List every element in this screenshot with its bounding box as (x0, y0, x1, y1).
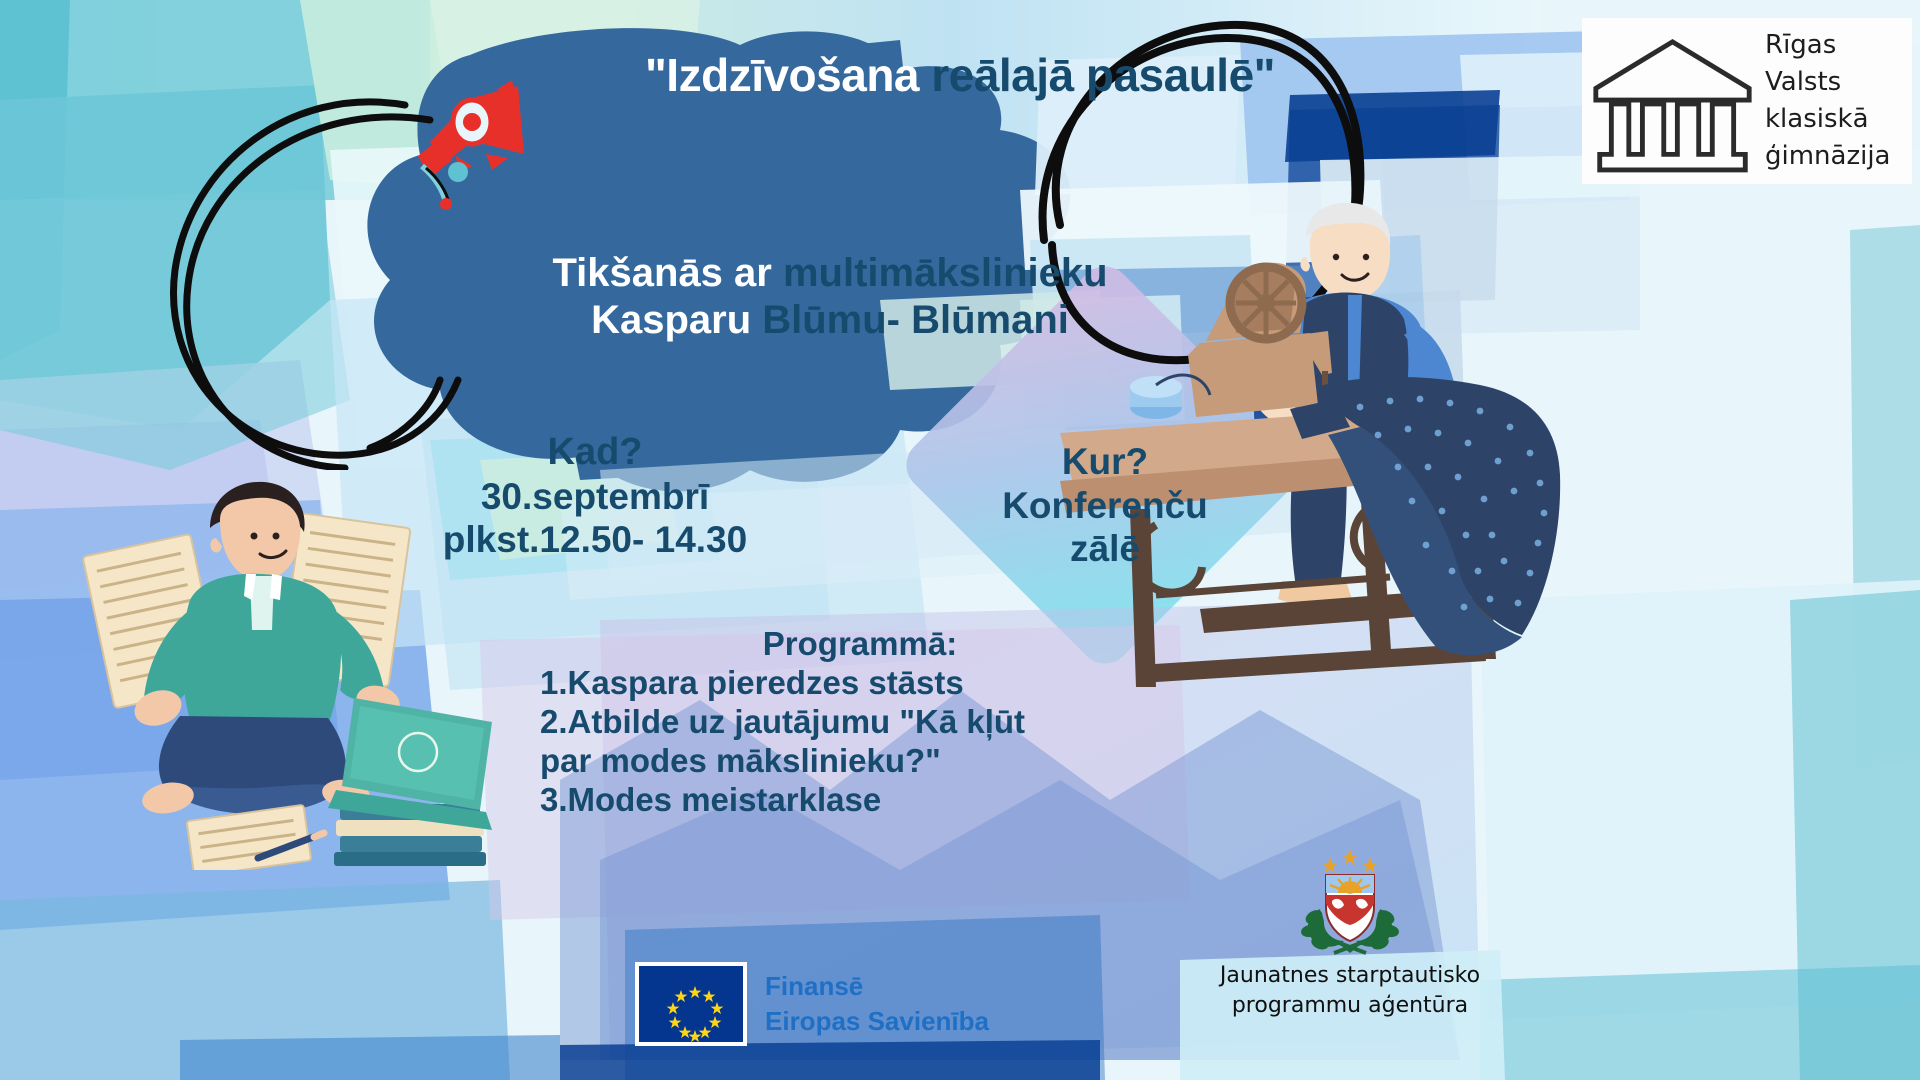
meeting-line1-white: Tikšanās ar (552, 251, 771, 295)
school-logo: Rīgas Valsts klasiskā ģimnāzija (1582, 18, 1912, 184)
when-label: Kad? (430, 430, 760, 475)
agency-caption-line1: Jaunatnes starptautisko (1200, 961, 1500, 991)
eu-label-line2: Eiropas Savienība (765, 1004, 989, 1039)
school-logo-text: Rīgas Valsts klasiskā ģimnāzija (1765, 27, 1891, 175)
programme-item: 2.Atbilde uz jautājumu "Kā kļūt (540, 703, 1180, 742)
school-logo-line: ģimnāzija (1765, 138, 1891, 175)
school-logo-line: Rīgas (1765, 27, 1891, 64)
programme-heading: Programmā: (540, 625, 1180, 664)
school-logo-line: klasiskā (1765, 101, 1891, 138)
agency-caption-line2: programmu aģentūra (1200, 991, 1500, 1021)
school-logo-line: Valsts (1765, 64, 1891, 101)
meeting-line2-white: Kasparu (591, 298, 751, 342)
eu-funding-label: Finansē Eiropas Savienība (765, 969, 989, 1039)
where-block: Kur? Konferenču zālē (955, 440, 1255, 571)
programme-item: 3.Modes meistarklase (540, 781, 1180, 820)
agency-logo-caption: Jaunatnes starptautisko programmu aģentū… (1200, 961, 1500, 1020)
classical-building-icon (1590, 26, 1755, 176)
eu-flag-icon (635, 962, 747, 1046)
meeting-line2-dark: Blūmu- Blūmani (762, 298, 1069, 342)
programme-block: Programmā: 1.Kaspara pieredzes stāsts 2.… (540, 625, 1180, 820)
meeting-headline: Tikšanās ar multimākslinieku Kasparu Blū… (350, 250, 1310, 344)
where-place-line2: zālē (955, 527, 1255, 571)
meeting-line1-dark: multimākslinieku (783, 251, 1108, 295)
where-place-line1: Konferenču (955, 484, 1255, 528)
when-time: plkst.12.50- 14.30 (430, 518, 760, 562)
title-white-part: "Izdzīvošana (645, 49, 919, 101)
poster-canvas: "Izdzīvošana reālajā pasaulē" Tikšanās a… (0, 0, 1920, 1080)
latvia-coat-of-arms-icon (1290, 845, 1410, 957)
where-label: Kur? (955, 440, 1255, 484)
eu-funding-logo: Finansē Eiropas Savienība (635, 962, 989, 1046)
eu-stars-circle (639, 966, 751, 1050)
programme-item: 1.Kaspara pieredzes stāsts (540, 664, 1180, 703)
eu-label-line1: Finansē (765, 969, 989, 1004)
programme-item: par modes mākslinieku?" (540, 742, 1180, 781)
agency-logo: Jaunatnes starptautisko programmu aģentū… (1200, 845, 1500, 1020)
when-date: 30.septembrī (430, 475, 760, 519)
when-block: Kad? 30.septembrī plkst.12.50- 14.30 (430, 430, 760, 562)
title-dark-part: reālajā pasaulē" (931, 49, 1275, 101)
